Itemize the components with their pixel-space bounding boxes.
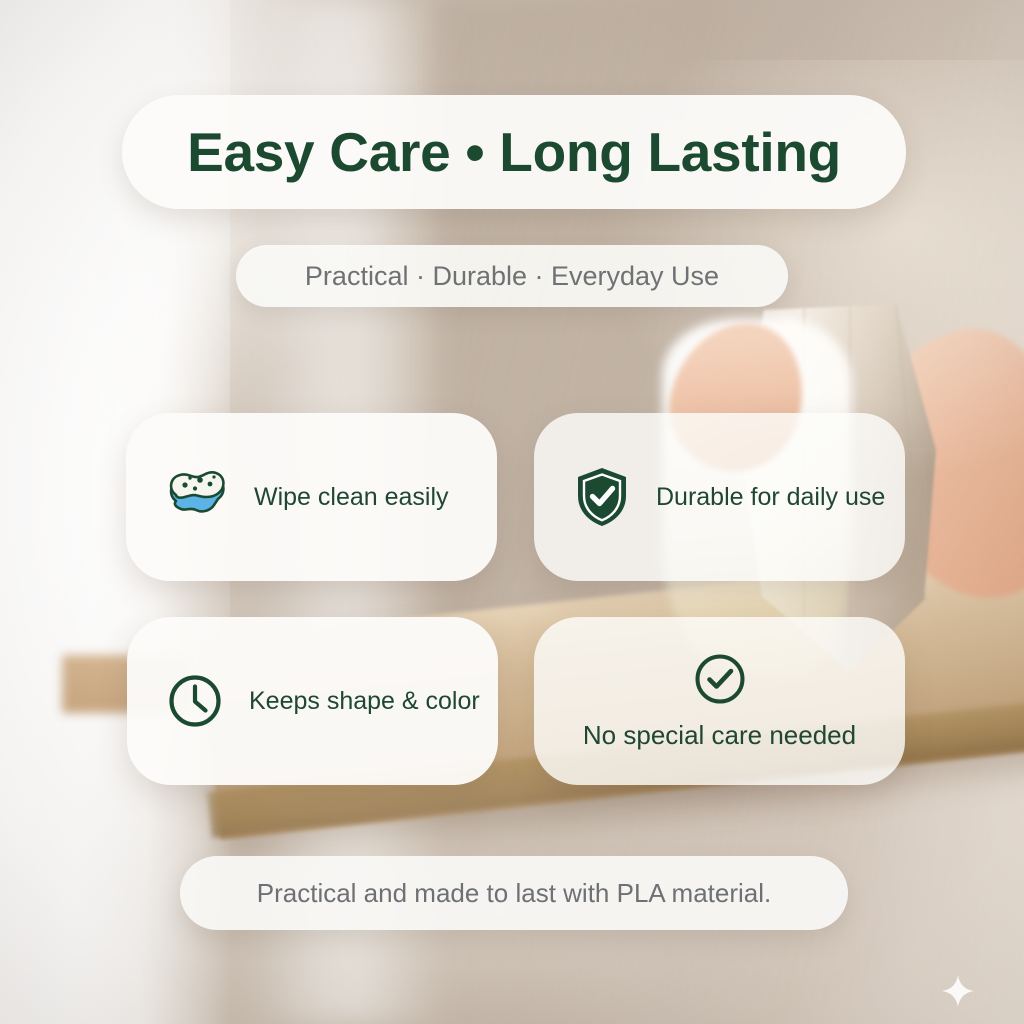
shield-check-icon bbox=[574, 466, 630, 528]
feature-label: Durable for daily use bbox=[656, 483, 885, 512]
feature-card-no-special-care[interactable]: No special care needed bbox=[534, 617, 905, 785]
sparkle-icon bbox=[941, 974, 975, 1008]
clock-icon bbox=[167, 673, 223, 729]
feature-card-wipe-clean[interactable]: Wipe clean easily bbox=[126, 413, 497, 581]
title-banner: Easy Care • Long Lasting bbox=[122, 95, 906, 209]
feature-card-durable[interactable]: Durable for daily use bbox=[534, 413, 905, 581]
footer-note: Practical and made to last with PLA mate… bbox=[257, 878, 771, 909]
check-circle-icon bbox=[693, 652, 747, 706]
feature-label: Keeps shape & color bbox=[249, 687, 480, 716]
infographic-canvas: Easy Care • Long Lasting Practical · Dur… bbox=[0, 0, 1024, 1024]
feature-card-keeps-shape[interactable]: Keeps shape & color bbox=[127, 617, 498, 785]
page-title: Easy Care • Long Lasting bbox=[187, 120, 841, 184]
subtitle-banner: Practical · Durable · Everyday Use bbox=[236, 245, 788, 307]
feature-label: Wipe clean easily bbox=[254, 483, 449, 512]
page-subtitle: Practical · Durable · Everyday Use bbox=[305, 261, 719, 292]
sponge-icon bbox=[166, 471, 228, 523]
footer-banner: Practical and made to last with PLA mate… bbox=[180, 856, 848, 930]
feature-label: No special care needed bbox=[583, 720, 856, 751]
